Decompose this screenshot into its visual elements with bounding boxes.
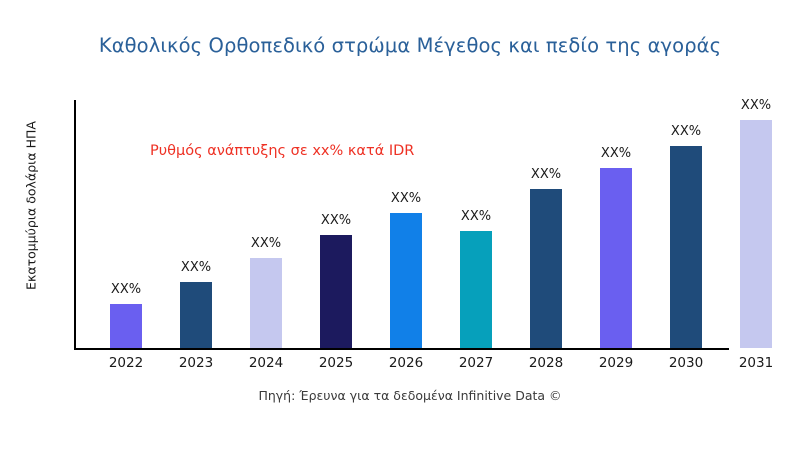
x-tick-2029: 2029: [599, 355, 633, 371]
x-tick-2025: 2025: [319, 355, 353, 371]
bar-2031[interactable]: [740, 120, 772, 348]
bar-value-label: XX%: [741, 98, 771, 113]
bar-2027[interactable]: [460, 231, 492, 348]
bar-2022[interactable]: [110, 304, 142, 348]
x-tick-2024: 2024: [249, 355, 283, 371]
plot-area: Ρυθμός ανάπτυξης σε xx% κατά IDR XX%XX%X…: [0, 0, 800, 450]
bar-value-label: XX%: [601, 146, 631, 161]
bar-2030[interactable]: [670, 146, 702, 348]
x-axis-line: [74, 348, 729, 350]
source-note: Πηγή: Έρευνα για τα δεδομένα Infinitive …: [60, 388, 760, 403]
bar-2028[interactable]: [530, 189, 562, 348]
bar-value-label: XX%: [671, 124, 701, 139]
x-tick-2027: 2027: [459, 355, 493, 371]
bar-2029[interactable]: [600, 168, 632, 348]
bar-2026[interactable]: [390, 213, 422, 348]
x-tick-2023: 2023: [179, 355, 213, 371]
y-axis-line: [74, 100, 76, 349]
bar-value-label: XX%: [251, 236, 281, 251]
bar-value-label: XX%: [391, 191, 421, 206]
x-tick-2028: 2028: [529, 355, 563, 371]
bar-value-label: XX%: [111, 282, 141, 297]
bar-value-label: XX%: [461, 209, 491, 224]
x-tick-2030: 2030: [669, 355, 703, 371]
bar-value-label: XX%: [321, 213, 351, 228]
bar-value-label: XX%: [181, 260, 211, 275]
x-tick-2031: 2031: [739, 355, 773, 371]
x-tick-2026: 2026: [389, 355, 423, 371]
bar-2025[interactable]: [320, 235, 352, 348]
chart-container: Καθολικός Ορθοπεδικό στρώμα Μέγεθος και …: [0, 0, 800, 450]
bar-2024[interactable]: [250, 258, 282, 348]
bar-2023[interactable]: [180, 282, 212, 348]
bar-value-label: XX%: [531, 167, 561, 182]
x-tick-2022: 2022: [109, 355, 143, 371]
growth-rate-annotation: Ρυθμός ανάπτυξης σε xx% κατά IDR: [150, 143, 414, 159]
